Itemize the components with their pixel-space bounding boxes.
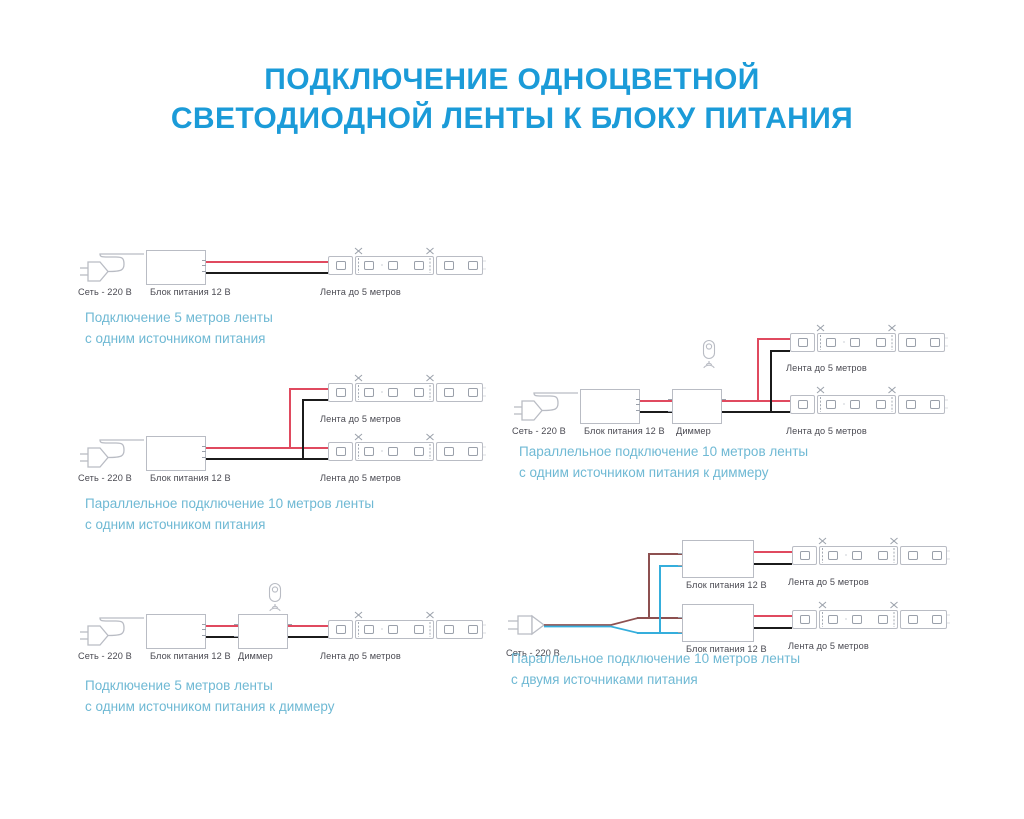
- caption-5: Параллельное подключение 10 метров ленты…: [511, 649, 800, 691]
- psu5l-terminal-in-a: [678, 617, 682, 618]
- psu5l-terminal-in-b: [678, 632, 682, 633]
- psu-label-5-upper: Блок питания 12 В: [686, 580, 767, 590]
- led-strip-5-upper: [792, 536, 952, 572]
- caption-5-line-2: с двумя источниками питания: [511, 670, 800, 691]
- wire-negative-5-lower: [754, 627, 792, 629]
- diagram-5-two-psu: Сеть - 220 В Блок питания 12 В: [0, 0, 1024, 819]
- diagram-canvas: ПОДКЛЮЧЕНИЕ ОДНОЦВЕТНОЙ СВЕТОДИОДНОЙ ЛЕН…: [0, 0, 1024, 819]
- plug-and-split-cable-5: [506, 605, 666, 645]
- psu5u-terminal-in-b: [678, 565, 682, 566]
- led-strip-5-lower: [792, 600, 952, 636]
- caption-5-line-1: Параллельное подключение 10 метров ленты: [511, 651, 800, 666]
- psu5u-terminal-in-a: [678, 553, 682, 554]
- psu-box-5-lower: [682, 604, 754, 642]
- wire-negative-5-upper: [754, 563, 792, 565]
- strip-label-5-upper: Лента до 5 метров: [788, 577, 869, 587]
- psu-box-5-upper: [682, 540, 754, 578]
- wire-positive-5-lower: [754, 615, 792, 617]
- strip-label-5-lower: Лента до 5 метров: [788, 641, 869, 651]
- wire-positive-5-upper: [754, 551, 792, 553]
- wire-live-5-upper: [648, 553, 682, 555]
- wire-neutral-5-branch: [659, 565, 661, 633]
- wire-live-5-branch: [648, 553, 650, 618]
